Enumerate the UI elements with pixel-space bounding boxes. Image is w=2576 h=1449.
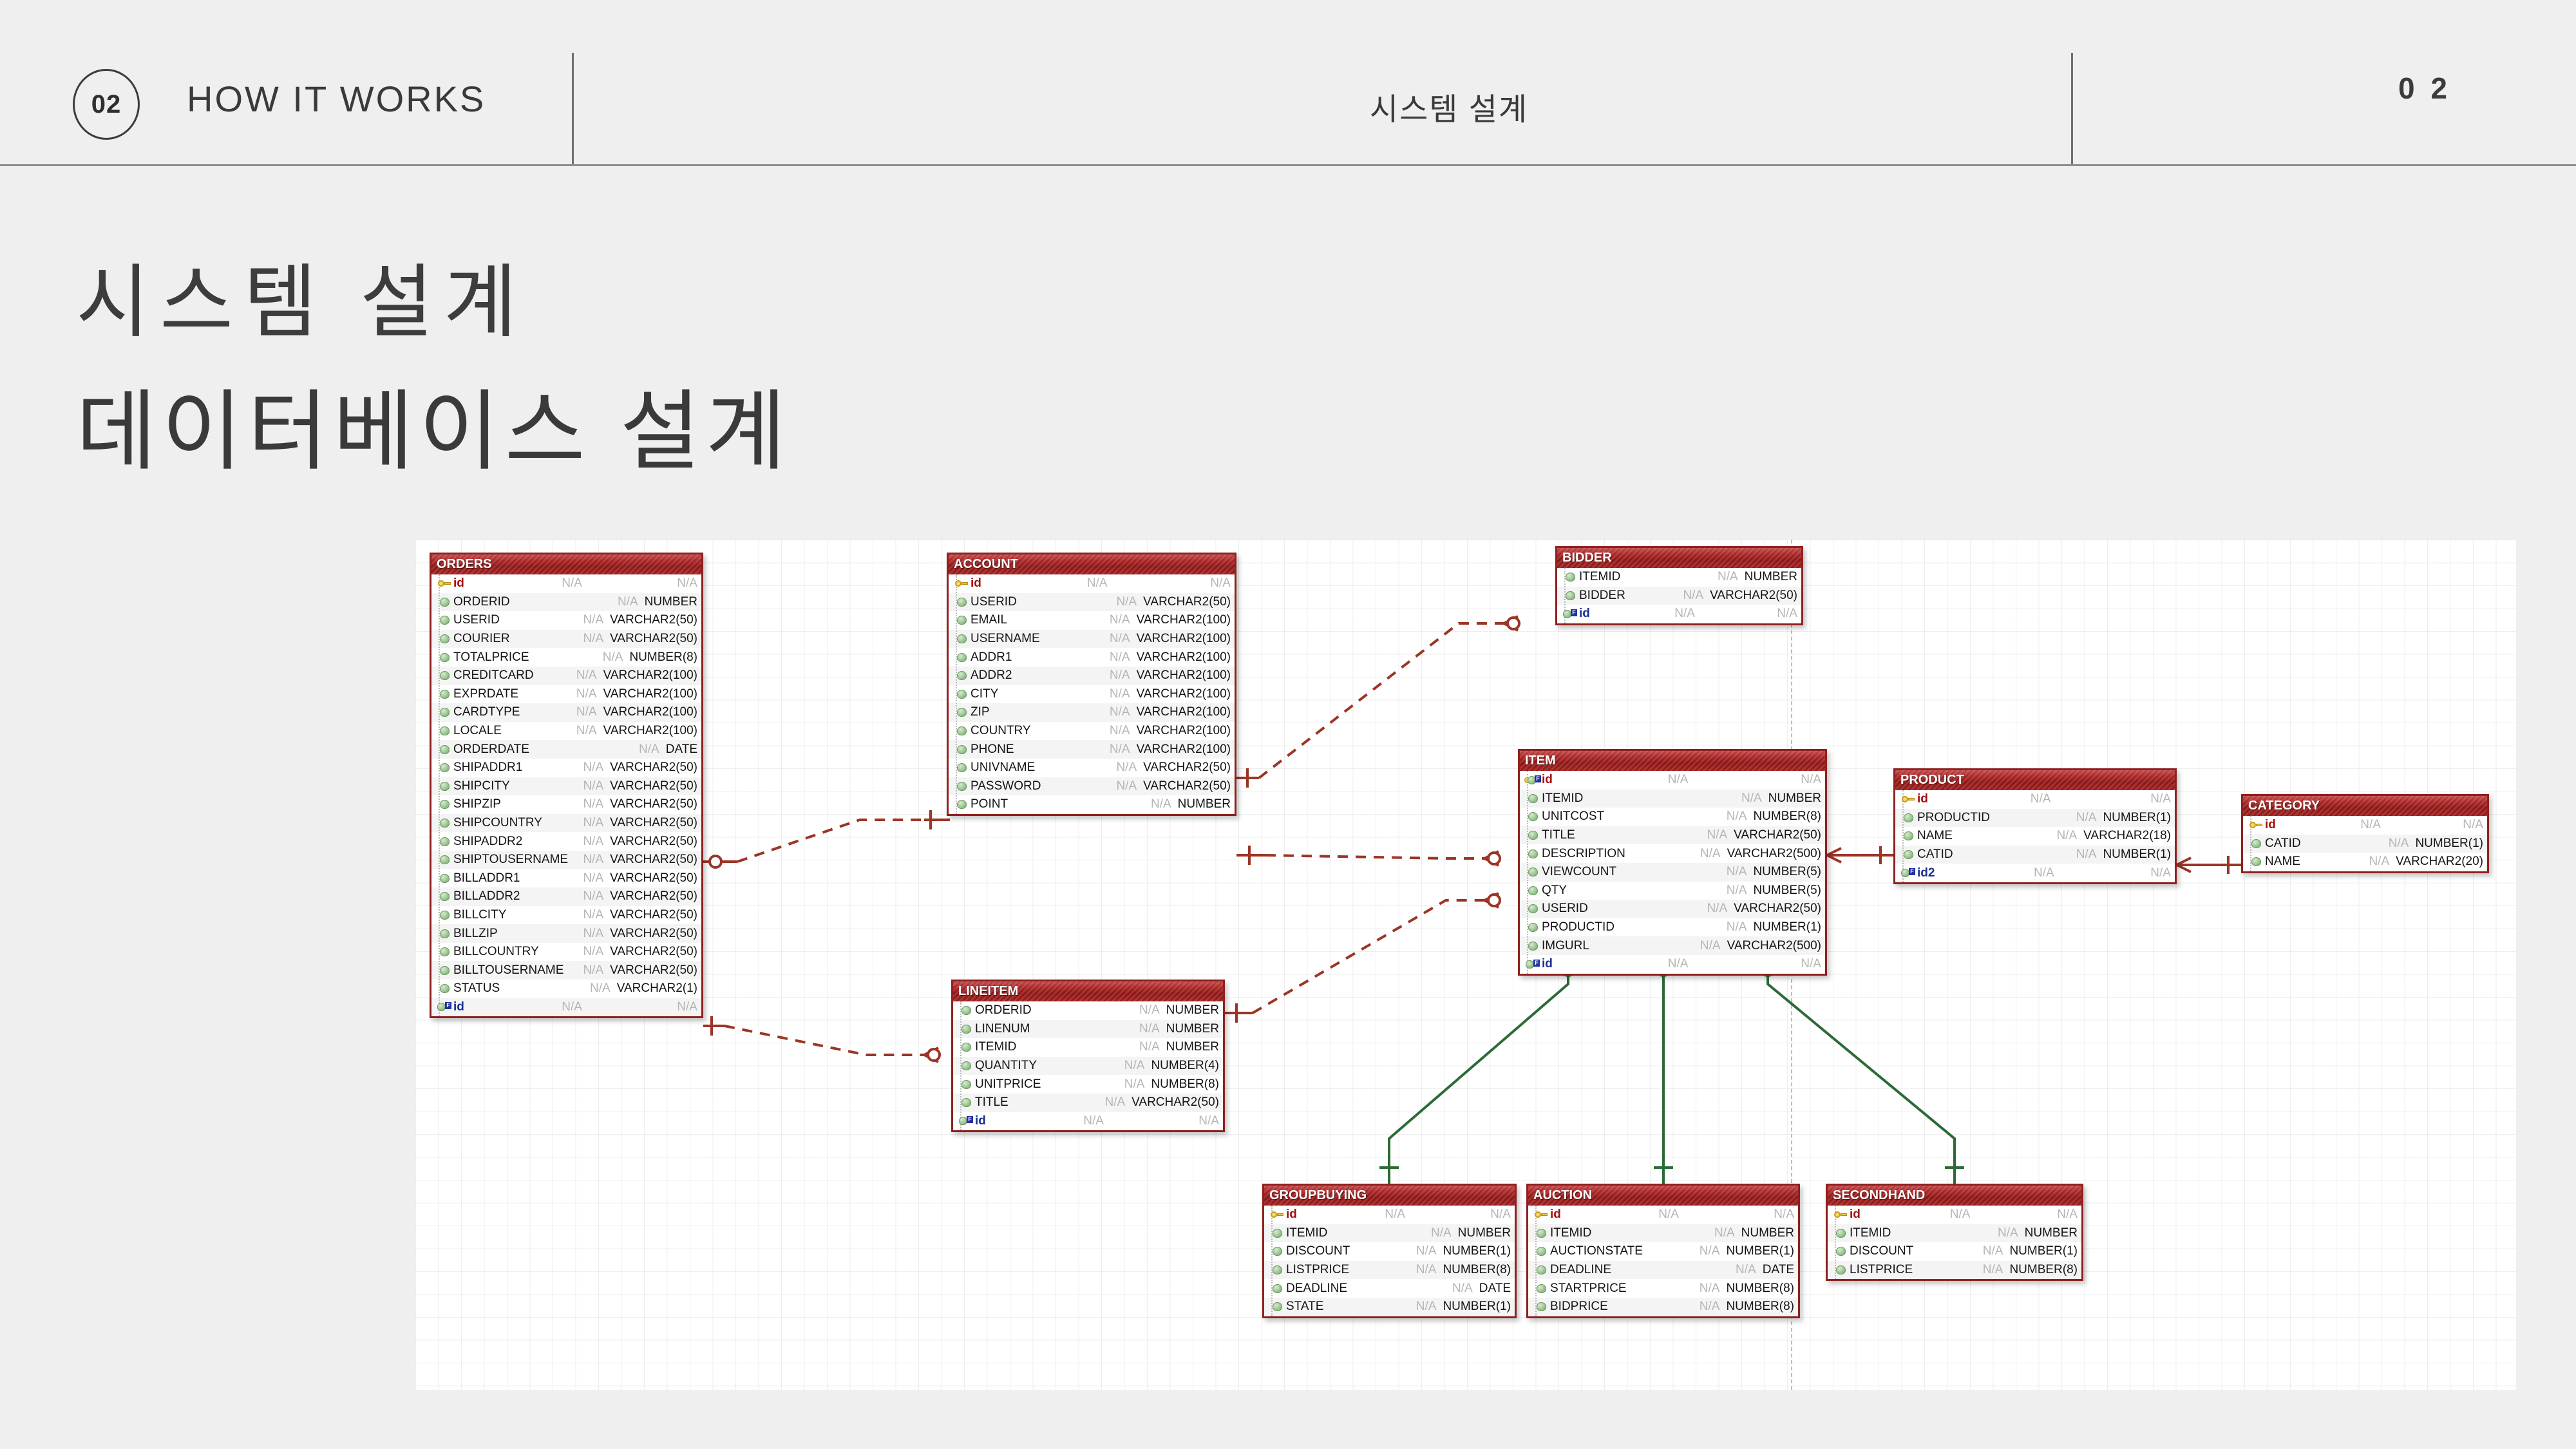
erd-column-name: BIDDER [1579,589,1625,603]
erd-column-nullable: N/A [1101,613,1130,627]
erd-column-row[interactable]: BILLADDR2N/AVARCHAR2(50) [431,887,701,906]
erd-column-row[interactable]: SHIPZIPN/AVARCHAR2(50) [431,795,701,814]
erd-column-type: VARCHAR2(50) [603,853,701,867]
erd-column-nullable: N/A [609,595,638,609]
erd-column-row[interactable]: DISCOUNTN/ANUMBER(1) [1828,1242,2081,1261]
erd-column-type: VARCHAR2(50) [603,945,701,959]
erd-table-auction[interactable]: AUCTIONidN/AN/AITEMIDN/ANUMBERAUCTIONSTA… [1526,1184,1800,1318]
erd-table-secondhand[interactable]: SECONDHANDidN/AN/AITEMIDN/ANUMBERDISCOUN… [1826,1184,2083,1281]
erd-column-type: VARCHAR2(50) [603,963,701,978]
erd-column-name: CITY [971,687,998,701]
erd-column-row[interactable]: DEADLINEN/ADATE [1528,1261,1798,1280]
erd-column-name: id [1550,1207,1561,1222]
erd-table-title: ACCOUNT [949,554,1235,574]
erd-column-type: N/A [2456,818,2487,832]
erd-column-row[interactable]: LISTPRICEN/ANUMBER(8) [1828,1261,2081,1280]
erd-column-type: VARCHAR2(50) [1727,828,1825,842]
erd-column-row[interactable]: ITEMIDN/ANUMBER [1528,1224,1798,1243]
erd-column-name: id [1917,792,1928,806]
erd-column-nullable: N/A [567,687,597,701]
erd-column-row[interactable]: idN/AN/A [1828,1206,2081,1224]
erd-column-name: STARTPRICE [1550,1282,1627,1296]
erd-column-row[interactable]: ITEMIDN/ANUMBER [953,1038,1223,1057]
erd-column-nullable: N/A [1101,632,1130,646]
erd-column-nullable: N/A [1732,791,1762,806]
erd-column-row[interactable]: FidN/AN/A [431,998,701,1017]
erd-column-nullable: N/A [1407,1263,1437,1277]
page-number: 0 2 [2318,71,2531,106]
erd-column-name: ITEMID [1550,1226,1591,1240]
column-icon [435,911,453,920]
erd-column-nullable: N/A [1709,570,1738,584]
erd-column-nullable: N/A [1941,1207,1971,1222]
erd-column-row[interactable]: DESCRIPTIONN/AVARCHAR2(500) [1520,844,1825,863]
erd-column-row[interactable]: ADDR1N/AVARCHAR2(100) [949,648,1235,667]
erd-table-category[interactable]: CATEGORYidN/AN/ACATIDN/ANUMBER(1)NAMEN/A… [2241,794,2489,873]
erd-column-row[interactable]: ITEMIDN/ANUMBER [1828,1224,2081,1243]
erd-column-type: VARCHAR2(50) [603,779,701,793]
erd-column-row[interactable]: idN/AN/A [1528,1206,1798,1224]
erd-column-row[interactable]: COUNTRYN/AVARCHAR2(100) [949,722,1235,741]
erd-column-row[interactable]: CREDITCARDN/AVARCHAR2(100) [431,667,701,685]
erd-column-nullable: N/A [1690,1244,1720,1258]
column-icon [952,708,971,717]
erd-column-type: VARCHAR2(18) [2077,829,2175,843]
erd-column-type: VARCHAR2(100) [1130,687,1235,701]
erd-canvas: ORDERSidN/AN/AORDERIDN/ANUMBERUSERIDN/AV… [415,540,2516,1390]
erd-column-type: N/A [670,1000,701,1014]
column-icon [1524,812,1542,821]
erd-column-row[interactable]: SHIPCOUNTRYN/AVARCHAR2(50) [431,814,701,833]
erd-table-item[interactable]: ITEMFidN/AN/AITEMIDN/ANUMBERUNITCOSTN/AN… [1518,749,1827,976]
erd-column-row[interactable]: PRODUCTIDN/ANUMBER(1) [1520,918,1825,937]
erd-column-row[interactable]: SHIPTOUSERNAMEN/AVARCHAR2(50) [431,851,701,869]
page-title: 데이터베이스 설계 [76,361,791,488]
erd-column-type: VARCHAR2(1) [611,981,701,996]
erd-column-row[interactable]: LISTPRICEN/ANUMBER(8) [1264,1261,1515,1280]
erd-column-type: NUMBER [638,595,701,609]
erd-column-name: DISCOUNT [1286,1244,1350,1258]
erd-column-list: idN/AN/AUSERIDN/AVARCHAR2(50)EMAILN/AVAR… [949,574,1235,814]
erd-column-type: NUMBER(1) [2096,811,2175,825]
erd-column-type: NUMBER(8) [1719,1300,1798,1314]
column-icon [435,763,453,772]
erd-column-type: N/A [670,576,701,591]
erd-column-nullable: N/A [1130,1040,1160,1054]
erd-column-row[interactable]: TITLEN/AVARCHAR2(50) [1520,826,1825,845]
column-icon [1524,794,1542,803]
column-icon [435,966,453,975]
column-icon [952,634,971,643]
erd-column-type: VARCHAR2(50) [603,835,701,849]
erd-column-nullable: N/A [581,981,611,996]
erd-column-nullable: N/A [1705,1226,1735,1240]
column-icon [952,598,971,607]
erd-column-row[interactable]: BILLCITYN/AVARCHAR2(50) [431,906,701,925]
erd-column-row[interactable]: ORDERDATEN/ADATE [431,740,701,759]
erd-column-row[interactable]: STATEN/ANUMBER(1) [1264,1298,1515,1316]
erd-column-row[interactable]: COURIERN/AVARCHAR2(50) [431,630,701,649]
erd-column-list: ORDERIDN/ANUMBERLINENUMN/ANUMBERITEMIDN/… [953,1001,1223,1130]
erd-column-row[interactable]: idN/AN/A [1264,1206,1515,1224]
erd-column-type: VARCHAR2(100) [597,687,701,701]
primary-key-icon [1532,1211,1550,1218]
erd-column-type: N/A [2050,1207,2081,1222]
erd-column-name: ITEMID [1579,570,1620,584]
erd-column-row[interactable]: LOCALEN/AVARCHAR2(100) [431,722,701,741]
erd-column-row[interactable]: CATIDN/ANUMBER(1) [1895,846,2175,864]
erd-column-name: SHIPTOUSERNAME [453,853,568,867]
erd-column-row[interactable]: USERNAMEN/AVARCHAR2(100) [949,630,1235,649]
erd-column-row[interactable]: FidN/AN/A [953,1112,1223,1131]
erd-column-type: N/A [1794,957,1825,971]
erd-column-row[interactable]: CARDTYPEN/AVARCHAR2(100) [431,703,701,722]
erd-table-account[interactable]: ACCOUNTidN/AN/AUSERIDN/AVARCHAR2(50)EMAI… [947,553,1236,816]
erd-column-name: NAME [2265,855,2300,869]
erd-column-type: VARCHAR2(50) [1137,595,1235,609]
column-icon [957,1080,975,1089]
erd-column-nullable: N/A [574,963,603,978]
column-icon [435,929,453,938]
erd-column-row[interactable]: TITLEN/AVARCHAR2(50) [953,1094,1223,1112]
erd-column-row[interactable]: USERIDN/AVARCHAR2(50) [431,611,701,630]
erd-column-row[interactable]: ORDERIDN/ANUMBER [431,593,701,612]
erd-column-row[interactable]: idN/AN/A [1895,790,2175,809]
erd-column-row[interactable]: idN/AN/A [431,574,701,593]
erd-column-type: VARCHAR2(20) [2389,855,2487,869]
erd-column-type: VARCHAR2(50) [603,816,701,830]
erd-column-nullable: N/A [1376,1207,1405,1222]
erd-column-name: ITEMID [1286,1226,1327,1240]
erd-column-row[interactable]: BILLCOUNTRYN/AVARCHAR2(50) [431,943,701,961]
erd-column-type: VARCHAR2(50) [603,889,701,904]
section-badge: 02 [73,69,140,140]
erd-column-type: VARCHAR2(100) [597,705,701,719]
erd-column-name: id [1579,607,1590,621]
erd-column-type: VARCHAR2(100) [597,724,701,738]
erd-column-nullable: N/A [1407,1300,1437,1314]
erd-column-name: EMAIL [971,613,1007,627]
erd-column-name: SHIPADDR2 [453,835,522,849]
column-icon [1524,831,1542,840]
erd-column-row[interactable]: FidN/AN/A [1520,955,1825,974]
column-icon [1268,1247,1286,1256]
erd-column-name: QUANTITY [975,1059,1037,1073]
erd-column-name: SHIPADDR1 [453,761,522,775]
erd-column-nullable: N/A [1078,576,1108,591]
erd-column-row[interactable]: STATUSN/AVARCHAR2(1) [431,980,701,998]
erd-column-nullable: N/A [2351,818,2381,832]
column-icon [1268,1284,1286,1293]
erd-column-row[interactable]: idN/AN/A [949,574,1235,593]
erd-column-name: CREDITCARD [453,668,534,683]
column-icon [435,671,453,680]
erd-column-nullable: N/A [574,761,603,775]
erd-column-name: SHIPZIP [453,797,501,811]
erd-column-nullable: N/A [1698,828,1727,842]
column-icon [957,1061,975,1070]
erd-column-row[interactable]: CITYN/AVARCHAR2(100) [949,685,1235,704]
erd-column-name: USERID [971,595,1017,609]
primary-key-icon [1268,1211,1286,1218]
erd-column-row[interactable]: VIEWCOUNTN/ANUMBER(5) [1520,863,1825,882]
column-icon [957,1025,975,1034]
erd-column-nullable: N/A [1115,1077,1145,1092]
erd-column-name: ITEMID [1850,1226,1891,1240]
column-icon [957,1006,975,1015]
column-icon [435,634,453,643]
erd-column-type: VARCHAR2(100) [1130,724,1235,738]
foreign-key-icon: F [957,1116,975,1126]
erd-column-row[interactable]: STARTPRICEN/ANUMBER(8) [1528,1279,1798,1298]
erd-column-list: idN/AN/AORDERIDN/ANUMBERUSERIDN/AVARCHAR… [431,574,701,1016]
erd-column-list: idN/AN/AITEMIDN/ANUMBERDISCOUNTN/ANUMBER… [1828,1206,2081,1279]
erd-column-nullable: N/A [553,1000,582,1014]
erd-column-row[interactable]: UNITCOSTN/ANUMBER(8) [1520,808,1825,826]
erd-column-row[interactable]: ZIPN/AVARCHAR2(100) [949,703,1235,722]
column-icon [435,690,453,699]
erd-column-nullable: N/A [574,889,603,904]
column-icon [435,855,453,864]
erd-column-nullable: N/A [1422,1226,1452,1240]
erd-column-nullable: N/A [574,927,603,941]
erd-column-nullable: N/A [1659,773,1689,787]
erd-column-type: N/A [1192,1114,1223,1128]
column-icon [435,782,453,791]
erd-column-type: VARCHAR2(50) [603,632,701,646]
column-icon [1524,923,1542,932]
erd-table-product[interactable]: PRODUCTidN/AN/APRODUCTIDN/ANUMBER(1)NAME… [1893,768,2177,884]
erd-column-row[interactable]: POINTN/ANUMBER [949,795,1235,814]
erd-column-type: NUMBER [2018,1226,2081,1240]
erd-column-type: VARCHAR2(50) [603,927,701,941]
erd-column-name: DEADLINE [1550,1263,1611,1277]
erd-column-type: N/A [2144,866,2175,880]
erd-column-list: ITEMIDN/ANUMBERBIDDERN/AVARCHAR2(50)FidN… [1557,568,1801,623]
erd-table-title: LINEITEM [953,981,1223,1001]
erd-column-type: DATE [659,743,701,757]
column-icon [1524,886,1542,895]
erd-column-type: VARCHAR2(50) [603,871,701,885]
erd-column-row[interactable]: ITEMIDN/ANUMBER [1557,568,1801,587]
erd-column-name: BILLZIP [453,927,498,941]
erd-column-list: idN/AN/APRODUCTIDN/ANUMBER(1)NAMEN/AVARC… [1895,790,2175,882]
erd-column-row[interactable]: QTYN/ANUMBER(5) [1520,882,1825,900]
erd-column-name: BILLCITY [453,908,506,922]
erd-column-row[interactable]: FidN/AN/A [1520,771,1825,790]
erd-column-row[interactable]: IMGURLN/AVARCHAR2(500) [1520,936,1825,955]
erd-table-groupbuying[interactable]: GROUPBUYINGidN/AN/AITEMIDN/ANUMBERDISCOU… [1262,1184,1517,1318]
column-icon [435,984,453,993]
erd-column-row[interactable]: BILLZIPN/AVARCHAR2(50) [431,924,701,943]
erd-column-row[interactable]: ADDR2N/AVARCHAR2(100) [949,667,1235,685]
erd-column-nullable: N/A [1989,1226,2018,1240]
erd-column-name: LISTPRICE [1286,1263,1349,1277]
erd-column-nullable: N/A [574,816,603,830]
erd-column-row[interactable]: BIDPRICEN/ANUMBER(8) [1528,1298,1798,1316]
erd-column-nullable: N/A [1690,1300,1720,1314]
erd-column-row[interactable]: SHIPCITYN/AVARCHAR2(50) [431,777,701,796]
erd-column-nullable: N/A [574,945,603,959]
erd-column-nullable: N/A [1690,1282,1720,1296]
erd-column-type: NUMBER(8) [1144,1077,1223,1092]
erd-column-nullable: N/A [1107,779,1137,793]
column-icon [435,837,453,846]
erd-column-name: LISTPRICE [1850,1263,1913,1277]
erd-column-nullable: N/A [1659,957,1689,971]
foreign-key-icon: F [1561,609,1579,619]
erd-column-row[interactable]: TOTALPRICEN/ANUMBER(8) [431,648,701,667]
erd-column-name: ADDR1 [971,650,1012,665]
erd-column-name: id [1286,1207,1297,1222]
erd-column-nullable: N/A [1101,724,1130,738]
erd-column-type: NUMBER(4) [1144,1059,1223,1073]
erd-column-list: idN/AN/ACATIDN/ANUMBER(1)NAMEN/AVARCHAR2… [2243,816,2487,871]
erd-column-row[interactable]: idN/AN/A [2243,816,2487,835]
erd-column-row[interactable]: SHIPADDR2N/AVARCHAR2(50) [431,832,701,851]
erd-column-row[interactable]: DISCOUNTN/ANUMBER(1) [1264,1242,1515,1261]
erd-column-row[interactable]: PASSWORDN/AVARCHAR2(50) [949,777,1235,796]
erd-column-row[interactable]: UNIVNAMEN/AVARCHAR2(50) [949,759,1235,777]
erd-column-type: VARCHAR2(50) [1125,1095,1223,1110]
erd-column-name: ORDERID [453,595,510,609]
erd-column-nullable: N/A [574,779,603,793]
column-icon [435,726,453,735]
erd-column-type: DATE [1473,1282,1515,1296]
erd-column-row[interactable]: BILLADDR1N/AVARCHAR2(50) [431,869,701,888]
erd-column-type: VARCHAR2(50) [1137,779,1235,793]
erd-column-name: DISCOUNT [1850,1244,1913,1258]
erd-column-row[interactable]: NAMEN/AVARCHAR2(18) [1895,827,2175,846]
primary-key-icon [435,580,453,587]
erd-column-nullable: N/A [1974,1244,2003,1258]
erd-column-type: VARCHAR2(50) [603,797,701,811]
column-icon [952,690,971,699]
erd-column-row[interactable]: QUANTITYN/ANUMBER(4) [953,1057,1223,1075]
column-icon [952,726,971,735]
erd-table-lineitem[interactable]: LINEITEMORDERIDN/ANUMBERLINENUMN/ANUMBER… [951,980,1225,1132]
erd-column-row[interactable]: PHONEN/AVARCHAR2(100) [949,740,1235,759]
erd-column-type: NUMBER(5) [1747,884,1825,898]
erd-column-nullable: N/A [574,871,603,885]
erd-table-title: PRODUCT [1895,770,2175,790]
erd-column-name: POINT [971,797,1008,811]
erd-column-name: COUNTRY [971,724,1031,738]
erd-column-row[interactable]: EXPRDATEN/AVARCHAR2(100) [431,685,701,704]
column-icon [2247,839,2265,848]
erd-column-nullable: N/A [1101,650,1130,665]
erd-column-name: BILLTOUSERNAME [453,963,563,978]
erd-table-bidder[interactable]: BIDDERITEMIDN/ANUMBERBIDDERN/AVARCHAR2(5… [1555,546,1803,625]
erd-table-title: GROUPBUYING [1264,1186,1515,1206]
erd-column-row[interactable]: SHIPADDR1N/AVARCHAR2(50) [431,759,701,777]
erd-column-type: NUMBER(8) [623,650,701,665]
erd-column-name: CATID [2265,837,2301,851]
erd-column-row[interactable]: LINENUMN/ANUMBER [953,1020,1223,1039]
column-icon [435,745,453,754]
erd-column-row[interactable]: ITEMIDN/ANUMBER [1520,790,1825,808]
foreign-key-icon: F [1524,960,1542,969]
erd-column-name: USERID [1542,902,1588,916]
erd-column-name: EXPRDATE [453,687,518,701]
column-icon [952,782,971,791]
column-icon [952,653,971,662]
header-center-title: 시스템 설계 [966,84,1932,129]
erd-table-title: SECONDHAND [1828,1186,2081,1206]
erd-column-name: BIDPRICE [1550,1300,1608,1314]
erd-column-name: LINENUM [975,1022,1030,1036]
erd-column-name: USERNAME [971,632,1040,646]
erd-column-nullable: N/A [2067,848,2097,862]
erd-column-row[interactable]: USERIDN/AVARCHAR2(50) [1520,900,1825,918]
erd-column-type: NUMBER [1452,1226,1515,1240]
column-icon [952,745,971,754]
erd-column-row[interactable]: FidN/AN/A [1557,605,1801,623]
erd-column-nullable: N/A [1698,902,1727,916]
erd-column-nullable: N/A [1718,810,1747,824]
erd-column-type: VARCHAR2(500) [1721,847,1825,861]
erd-column-name: id [971,576,981,591]
erd-column-row[interactable]: CATIDN/ANUMBER(1) [2243,835,2487,853]
erd-column-type: NUMBER(8) [1719,1282,1798,1296]
erd-column-type: NUMBER [1160,1003,1223,1018]
erd-column-nullable: N/A [2360,855,2389,869]
erd-column-row[interactable]: DEADLINEN/ADATE [1264,1279,1515,1298]
erd-column-type: VARCHAR2(50) [603,761,701,775]
column-icon [435,653,453,662]
erd-column-name: TITLE [975,1095,1009,1110]
column-icon [1561,591,1579,600]
column-icon [1899,831,1917,840]
erd-table-title: CATEGORY [2243,796,2487,816]
erd-column-row[interactable]: EMAILN/AVARCHAR2(100) [949,611,1235,630]
erd-column-row[interactable]: ORDERIDN/ANUMBER [953,1001,1223,1020]
erd-column-row[interactable]: AUCTIONSTATEN/ANUMBER(1) [1528,1242,1798,1261]
column-icon [435,819,453,828]
erd-column-row[interactable]: BILLTOUSERNAMEN/AVARCHAR2(50) [431,961,701,980]
header-rule [0,164,2576,166]
erd-column-nullable: N/A [1691,939,1721,953]
erd-column-row[interactable]: PRODUCTIDN/ANUMBER(1) [1895,809,2175,828]
erd-column-row[interactable]: UNITPRICEN/ANUMBER(8) [953,1075,1223,1094]
erd-column-row[interactable]: NAMEN/AVARCHAR2(20) [2243,853,2487,871]
erd-table-title: ITEM [1520,751,1825,771]
erd-column-name: STATUS [453,981,500,996]
column-icon [435,892,453,901]
erd-column-row[interactable]: BIDDERN/AVARCHAR2(50) [1557,587,1801,605]
erd-column-row[interactable]: ITEMIDN/ANUMBER [1264,1224,1515,1243]
erd-column-name: IMGURL [1542,939,1589,953]
erd-column-type: N/A [2144,792,2175,806]
column-icon [1268,1265,1286,1274]
erd-column-nullable: N/A [1130,1003,1160,1018]
column-icon [952,616,971,625]
erd-column-row[interactable]: Fid2N/AN/A [1895,864,2175,882]
erd-column-type: NUMBER(8) [1747,810,1825,824]
slide-header: 02 HOW IT WORKS 시스템 설계 0 2 [0,0,2576,166]
erd-column-name: BILLADDR1 [453,871,520,885]
erd-column-name: DEADLINE [1286,1282,1347,1296]
column-icon [435,708,453,717]
erd-column-name: id2 [1917,866,1935,880]
erd-table-orders[interactable]: ORDERSidN/AN/AORDERIDN/ANUMBERUSERIDN/AV… [430,553,703,1018]
column-icon [952,800,971,809]
erd-column-row[interactable]: USERIDN/AVARCHAR2(50) [949,593,1235,612]
erd-column-type: VARCHAR2(100) [1130,613,1235,627]
primary-key-icon [1832,1211,1850,1218]
erd-column-type: NUMBER(1) [1436,1244,1515,1258]
column-icon [435,874,453,883]
